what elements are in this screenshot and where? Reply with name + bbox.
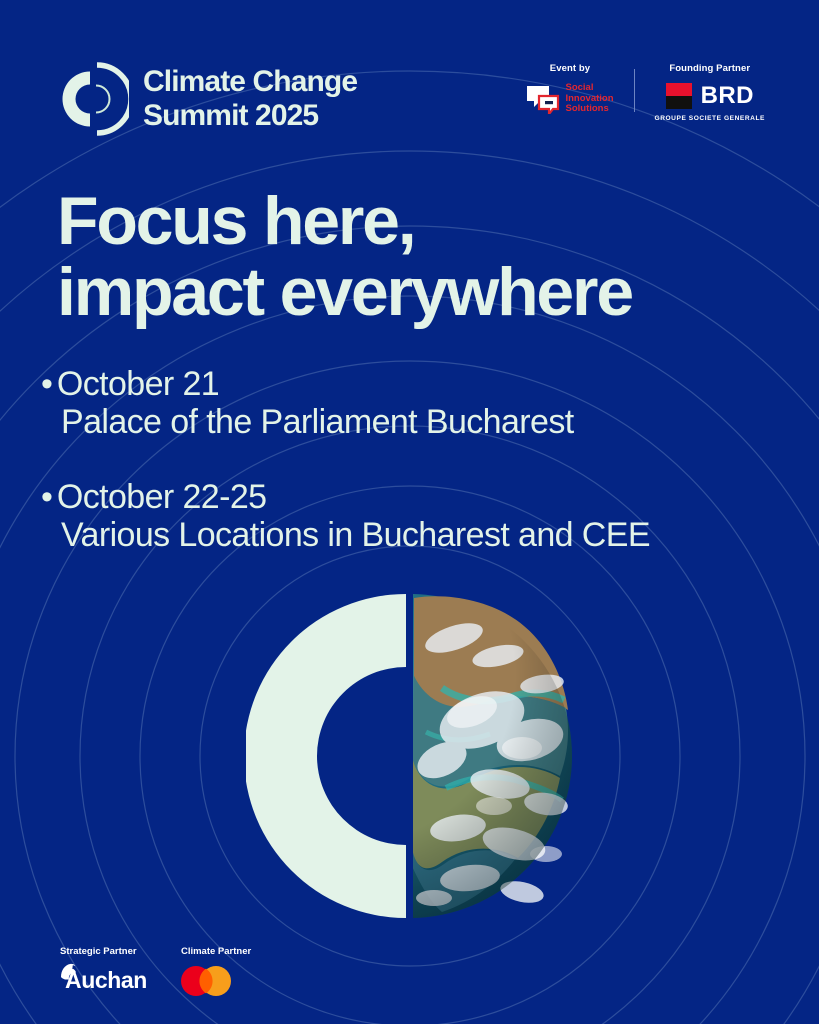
list-item: • October 21 Palace of the Parliament Bu… bbox=[41, 366, 781, 441]
poster-header: Climate Change Summit 2025 Event by Soci… bbox=[0, 0, 819, 150]
bottom-partners: Strategic Partner Auchan Climate Partner bbox=[60, 946, 251, 996]
partner-divider bbox=[634, 69, 635, 112]
event-date-row: • October 22-25 bbox=[41, 479, 781, 516]
bullet-icon: • bbox=[41, 366, 53, 403]
event-by-block: Event by Social Innovation Solutions bbox=[508, 63, 631, 115]
strategic-partner-block: Strategic Partner Auchan bbox=[60, 946, 147, 992]
speech-bubbles-icon bbox=[526, 84, 560, 114]
founding-partner-label: Founding Partner bbox=[669, 63, 750, 74]
list-item: • October 22-25 Various Locations in Buc… bbox=[41, 479, 781, 554]
brand-lockup: Climate Change Summit 2025 bbox=[57, 61, 357, 137]
brd-square-icon bbox=[666, 83, 692, 109]
mastercard-logo[interactable] bbox=[181, 966, 231, 996]
climate-change-summit-logo-mark bbox=[57, 61, 129, 137]
bullet-icon: • bbox=[41, 479, 53, 516]
strategic-partner-label: Strategic Partner bbox=[60, 946, 137, 957]
sis-word-3: Solutions bbox=[565, 104, 613, 115]
bird-icon bbox=[57, 961, 79, 983]
brd-logo-row: BRD bbox=[666, 83, 754, 109]
brand-line-1: Climate Change bbox=[143, 65, 357, 99]
event-date: October 22-25 bbox=[57, 479, 267, 516]
half-ring-half-earth-graphic bbox=[246, 592, 574, 920]
brand-line-2: Summit 2025 bbox=[143, 99, 357, 133]
climate-partner-label: Climate Partner bbox=[181, 946, 251, 957]
sis-wordmark: Social Innovation Solutions bbox=[565, 83, 613, 115]
auchan-logo[interactable]: Auchan bbox=[60, 966, 147, 992]
event-date: October 21 bbox=[57, 366, 219, 403]
brd-wordmark: BRD bbox=[701, 84, 754, 108]
mint-c-ring-half bbox=[246, 594, 406, 918]
founding-partner-block: Founding Partner BRD GROUPE SOCIETE GENE… bbox=[637, 63, 783, 122]
top-partners: Event by Social Innovation Solutions bbox=[508, 63, 783, 122]
event-info-list: • October 21 Palace of the Parliament Bu… bbox=[41, 366, 781, 554]
social-innovation-solutions-logo[interactable]: Social Innovation Solutions bbox=[526, 83, 613, 115]
brand-text-block: Climate Change Summit 2025 bbox=[143, 65, 357, 133]
brd-subline: GROUPE SOCIETE GENERALE bbox=[655, 115, 765, 122]
event-date-row: • October 21 bbox=[41, 366, 781, 403]
event-location: Palace of the Parliament Bucharest bbox=[41, 403, 781, 441]
event-by-label: Event by bbox=[550, 63, 590, 74]
mastercard-overlap-shape bbox=[181, 966, 231, 996]
brd-logo[interactable]: BRD GROUPE SOCIETE GENERALE bbox=[655, 83, 765, 122]
event-location: Various Locations in Bucharest and CEE bbox=[41, 516, 781, 554]
climate-change-summit-poster: Climate Change Summit 2025 Event by Soci… bbox=[0, 0, 819, 1024]
climate-partner-block: Climate Partner bbox=[181, 946, 251, 996]
page-title: Focus here, impact everywhere bbox=[57, 186, 757, 329]
